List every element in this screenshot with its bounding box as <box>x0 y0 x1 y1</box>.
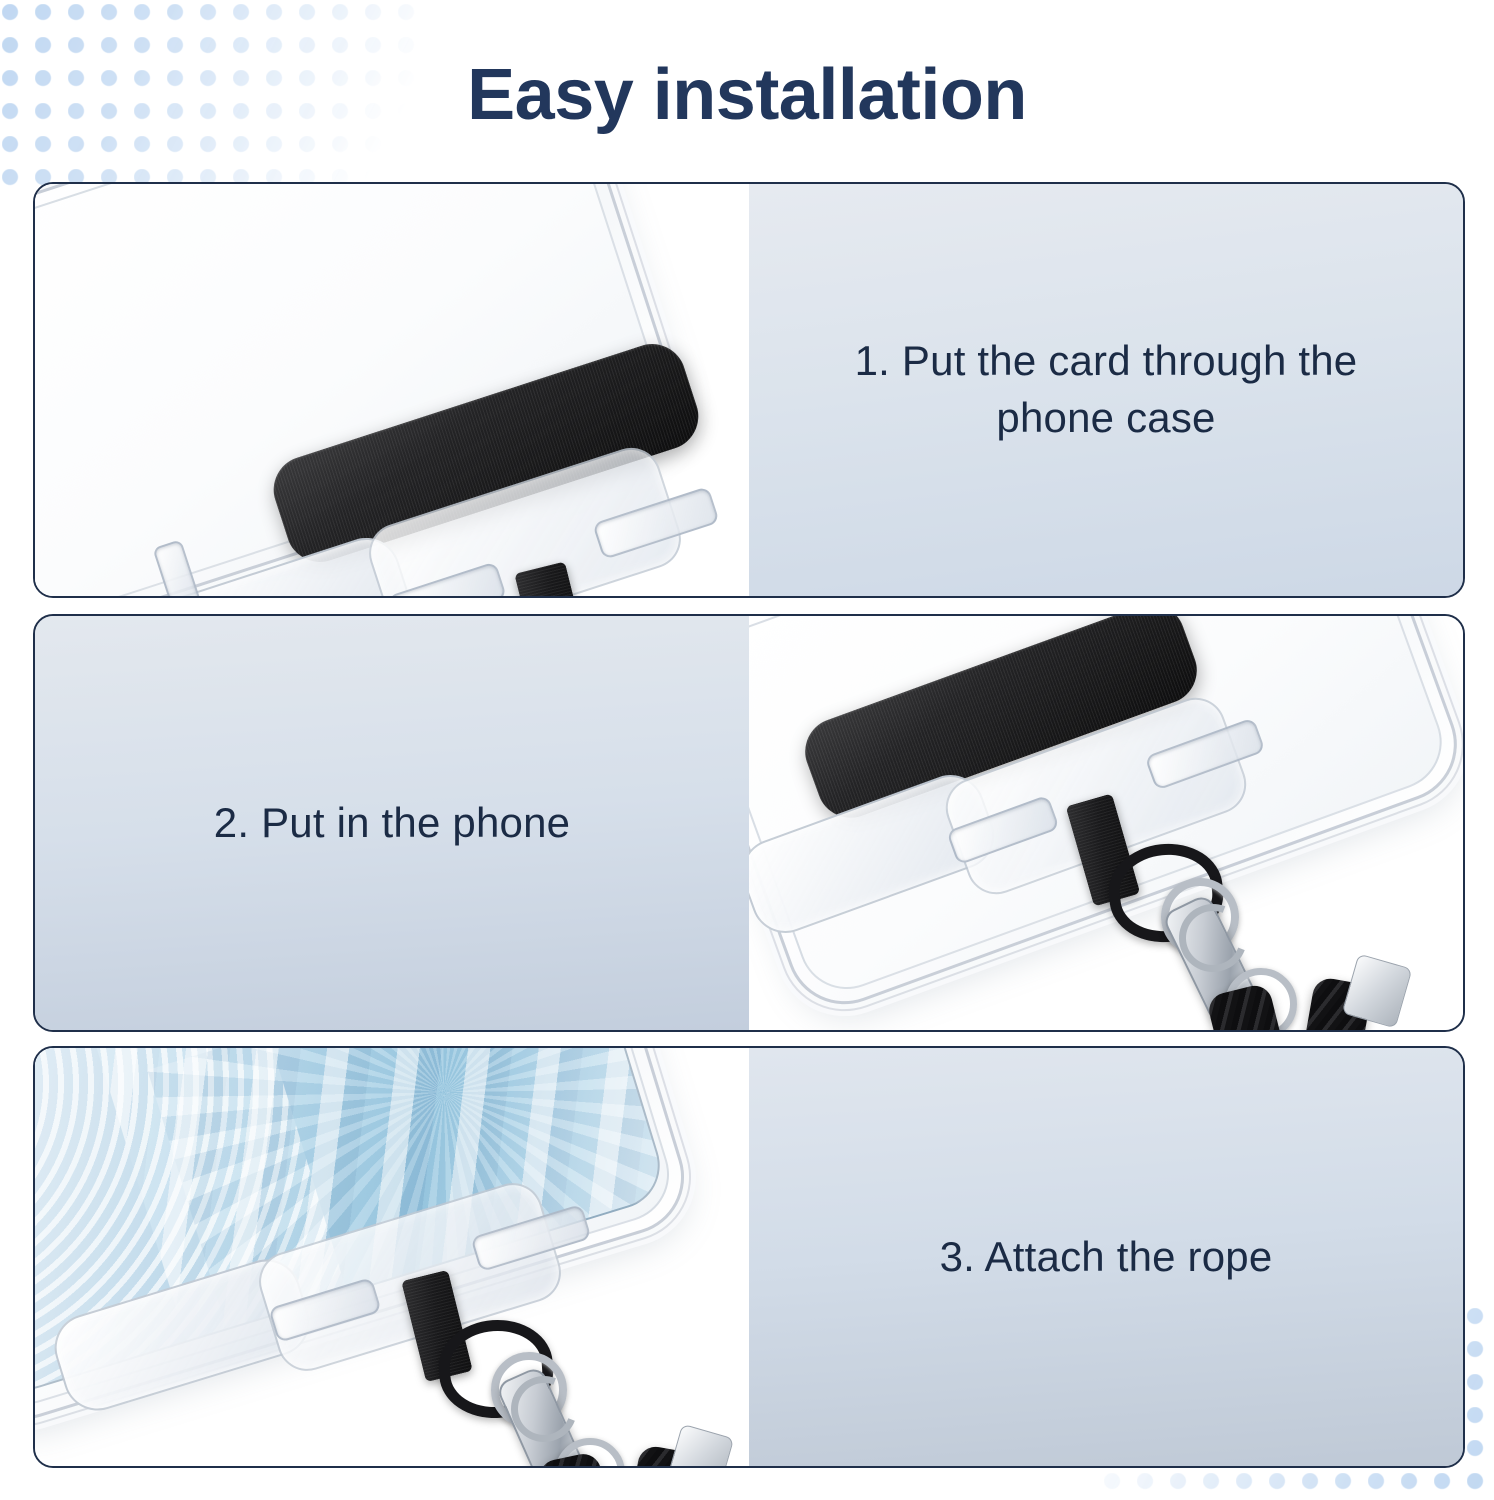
step-panel-1: 1. Put the card through the phone case <box>33 182 1465 598</box>
step-3-text-panel: 3. Attach the rope <box>749 1048 1463 1466</box>
step-2-label: 2. Put in the phone <box>174 795 610 852</box>
step-3-label: 3. Attach the rope <box>900 1229 1313 1286</box>
step-panel-3: 3. Attach the rope <box>33 1046 1465 1468</box>
step-2-text-panel: 2. Put in the phone <box>35 616 749 1030</box>
phone-blue-wallpaper-rope-illustration <box>35 1048 749 1466</box>
step-1-image <box>35 184 749 596</box>
phone-case-card-illustration <box>35 184 749 596</box>
rope-metal-sleeve <box>666 1424 734 1466</box>
page-title: Easy installation <box>0 58 1494 134</box>
step-panel-2: 2. Put in the phone <box>33 614 1465 1032</box>
phone-with-rope-illustration <box>749 616 1463 1030</box>
step-1-label: 1. Put the card through the phone case <box>815 333 1398 446</box>
step-3-image <box>35 1048 749 1466</box>
step-1-text-panel: 1. Put the card through the phone case <box>749 184 1463 596</box>
step-2-image <box>749 616 1463 1030</box>
